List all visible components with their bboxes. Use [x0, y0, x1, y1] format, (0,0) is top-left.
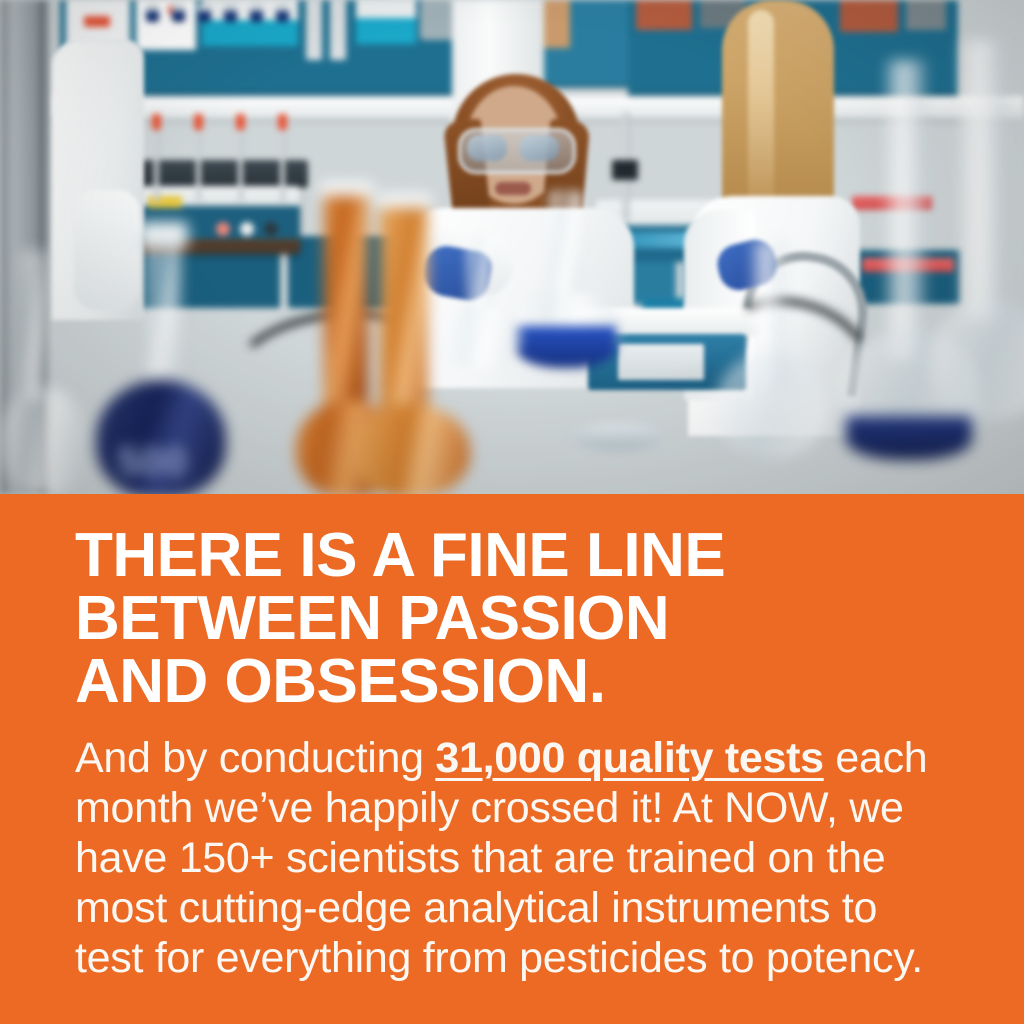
pipette-tip — [236, 114, 245, 130]
goggle-lens-right — [519, 135, 559, 161]
shelf-bottle — [330, 0, 346, 60]
laboratory-photo: 500 — [0, 0, 1024, 494]
flask-500-label: 500 — [118, 440, 210, 480]
amber-flask-neck — [380, 208, 428, 432]
amber-flask-neck — [324, 196, 368, 426]
quality-tests-emphasis: 31,000 quality tests — [435, 734, 823, 782]
body-lead: And by conducting — [75, 734, 435, 782]
amber-flask-bulb — [352, 404, 470, 494]
pipette-rod — [280, 118, 285, 202]
erlenmeyer-flask — [440, 306, 524, 368]
shelf-box — [136, 0, 196, 50]
goggle-lens-left — [467, 135, 507, 161]
sample-vial — [250, 4, 263, 22]
pipette-rod — [154, 118, 159, 202]
flask-500-neck — [146, 236, 180, 396]
flask-500-stopper — [138, 222, 188, 248]
shelf-bottle — [306, 0, 322, 60]
center-scientist-mouth — [495, 182, 531, 195]
sample-vial — [198, 4, 211, 22]
foreground-glass-column — [886, 60, 926, 360]
body-paragraph: And by conducting 31,000 quality tests e… — [75, 733, 940, 983]
foreground-flask-bulb — [0, 386, 86, 494]
instrument-knob — [216, 222, 230, 236]
sample-vial — [224, 4, 237, 22]
stand-clamp — [612, 160, 638, 180]
flask-blue-liquid — [516, 326, 616, 368]
shelf-box — [840, 0, 898, 32]
shelf-liquid — [356, 18, 416, 44]
shelf-box — [636, 0, 692, 30]
foreground-flask-neck — [22, 250, 48, 400]
foreground-glass-bulb — [930, 300, 1024, 420]
page-title: THERE IS A FINE LINE BETWEEN PASSION AND… — [75, 524, 975, 713]
instrument-knob — [240, 222, 254, 236]
pipette-tip — [152, 114, 161, 130]
sample-vial — [276, 4, 289, 22]
shelf-box — [84, 16, 110, 27]
left-scientist-arm — [74, 190, 140, 310]
instrument-knob — [264, 222, 278, 236]
pipette-rod — [238, 118, 243, 202]
lab-balance-panel — [618, 344, 704, 380]
sample-vial — [146, 4, 159, 22]
promo-canvas: 500 THERE IS A FINE LINE BETWEEN PASSION… — [0, 0, 1024, 1024]
shelf-box — [906, 0, 946, 30]
foreground-glass-bulb — [716, 352, 826, 458]
petri-dish — [572, 424, 664, 450]
pipette-rod — [196, 118, 201, 202]
safety-goggles-icon — [458, 128, 576, 174]
pipette-tip — [278, 114, 287, 130]
pipette-tip — [194, 114, 203, 130]
sample-vial — [172, 4, 185, 22]
foreground-glass-column — [960, 40, 1006, 320]
shelf-liquid — [202, 20, 298, 46]
foreground-glass-liquid — [846, 416, 972, 460]
